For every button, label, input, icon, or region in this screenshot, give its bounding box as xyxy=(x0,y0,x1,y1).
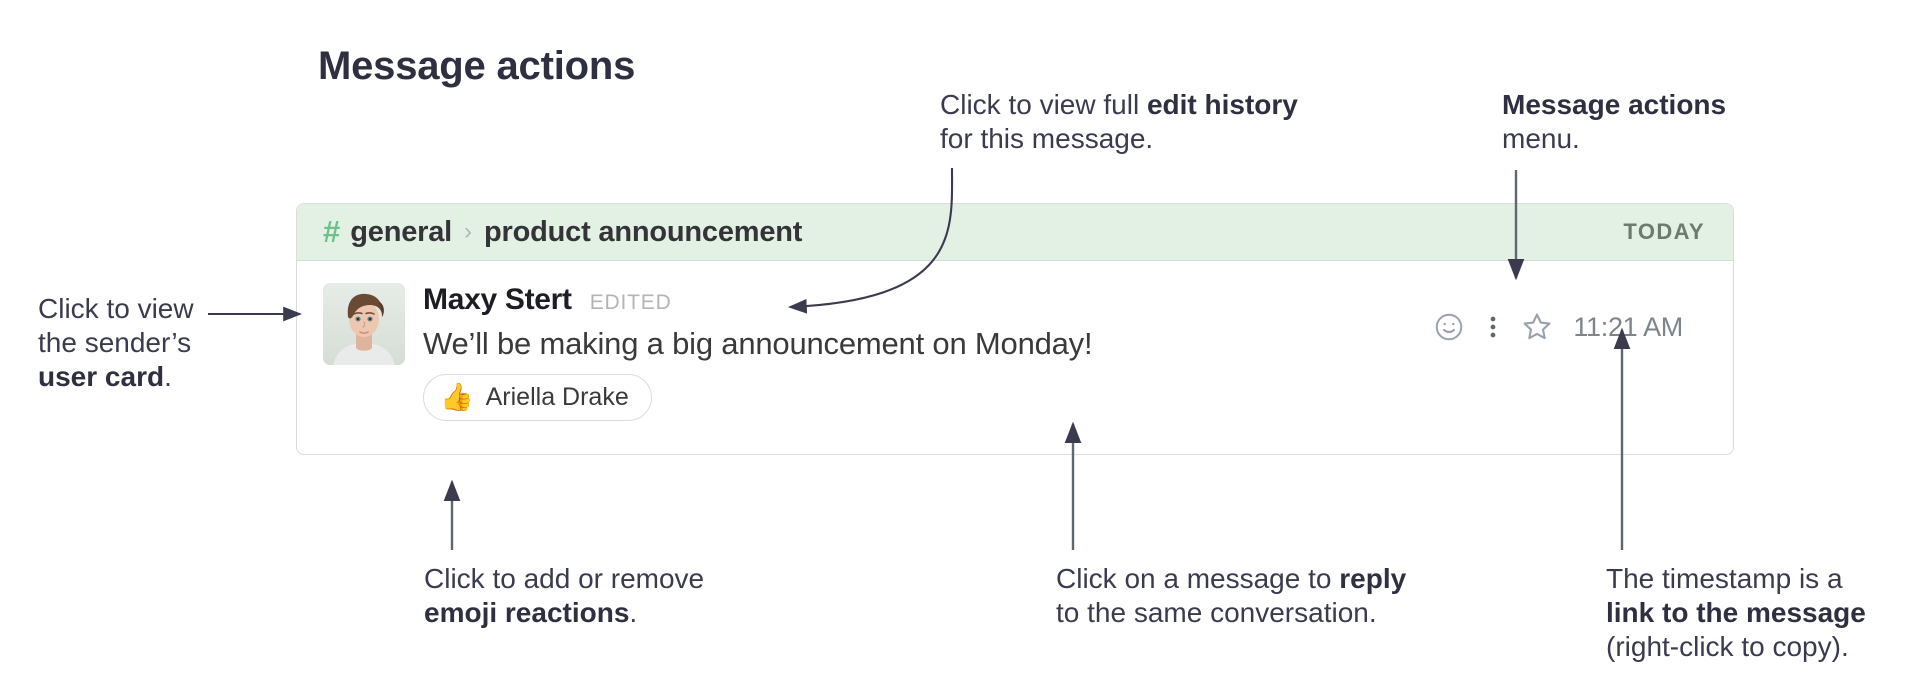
annotation-actions-menu: Message actions menu. xyxy=(1502,88,1726,156)
topic-name-link[interactable]: product announcement xyxy=(484,216,802,249)
vertical-dots-icon[interactable] xyxy=(1471,307,1515,347)
message-actions-toolbar[interactable]: 11:21 AM xyxy=(1427,307,1683,347)
chevron-right-icon: › xyxy=(464,220,472,244)
annotation-edit-history: Click to view full edit history for this… xyxy=(940,88,1298,156)
message-timestamp-link[interactable]: 11:21 AM xyxy=(1573,312,1683,343)
sender-name[interactable]: Maxy Stert xyxy=(423,283,572,317)
stream-name-link[interactable]: general xyxy=(350,216,452,249)
message-card: # general › product announcement TODAY xyxy=(296,203,1734,455)
channel-topic-header: # general › product announcement TODAY xyxy=(297,204,1733,261)
date-label: TODAY xyxy=(1623,219,1705,245)
avatar[interactable] xyxy=(323,283,405,365)
reaction-user-name: Ariella Drake xyxy=(486,383,629,412)
star-outline-icon[interactable] xyxy=(1515,307,1559,347)
emoji-smiley-icon[interactable] xyxy=(1427,307,1471,347)
thumbs-up-icon[interactable]: 👍 xyxy=(440,384,474,411)
annotation-reply: Click on a message to reply to the same … xyxy=(1056,562,1406,630)
annotation-user-card: Click to view the sender’s user card. xyxy=(38,292,278,394)
annotation-timestamp-link: The timestamp is a link to the message (… xyxy=(1606,562,1866,664)
edited-badge[interactable]: EDITED xyxy=(590,291,672,315)
annotation-emoji-reactions: Click to add or remove emoji reactions. xyxy=(424,562,704,630)
hash-icon[interactable]: # xyxy=(323,216,340,247)
emoji-reaction-pill[interactable]: 👍 Ariella Drake xyxy=(423,374,652,421)
page-title: Message actions xyxy=(318,44,635,89)
message-body[interactable]: Maxy Stert EDITED We’ll be making a big … xyxy=(297,261,1733,421)
